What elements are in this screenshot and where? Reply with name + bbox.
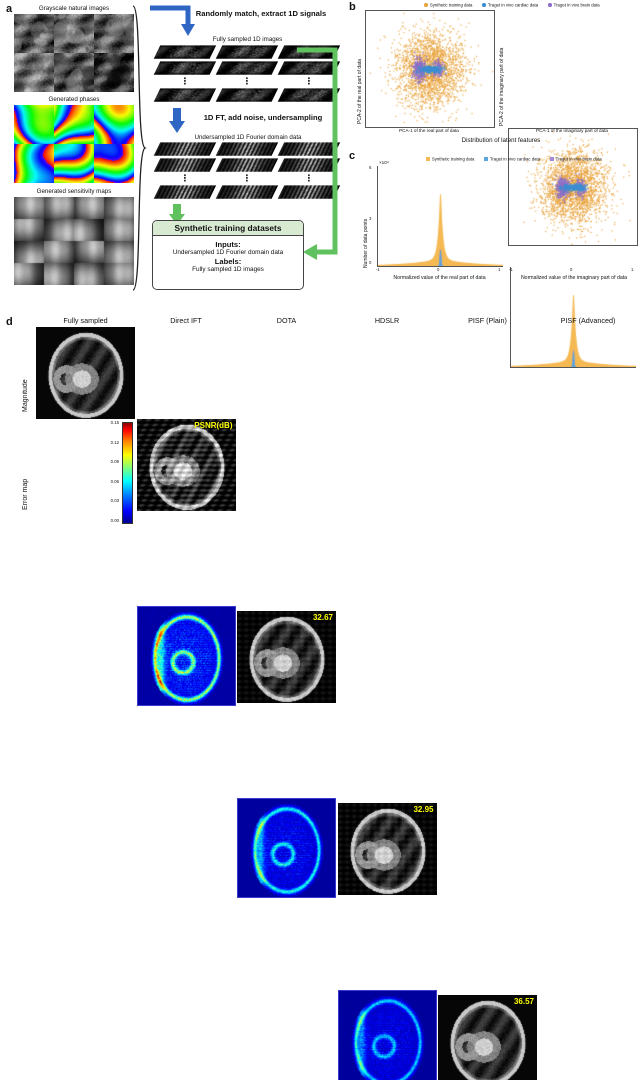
stack-ellipsis: ⋮ bbox=[157, 77, 213, 86]
inputs-label: Inputs: bbox=[155, 240, 301, 249]
inputs-value: Undersampled 1D Fourier domain data bbox=[155, 249, 301, 256]
undersampled-fourier-slab bbox=[157, 142, 213, 156]
legend-item: Synthetic training data bbox=[424, 2, 472, 7]
legend-item: Traget in vivo cardiac data bbox=[482, 2, 538, 7]
error-map-2 bbox=[137, 606, 236, 706]
psnr-value-4: 32.95 bbox=[413, 805, 433, 814]
stack-ellipsis: ⋮ bbox=[219, 77, 275, 86]
generated-phases bbox=[14, 105, 134, 183]
legend-item: Traget in vivo brain data bbox=[548, 2, 599, 7]
legend-swatch-icon bbox=[482, 3, 486, 7]
panel-d-letter: d bbox=[6, 316, 13, 328]
column-header-pisf-plain: PISF (Plain) bbox=[438, 316, 537, 325]
column-header-hdslr: HDSLR bbox=[338, 316, 437, 325]
legend-label: Traget in vivo cardiac data bbox=[490, 156, 540, 161]
panel-d-columns: Fully sampledDirect IFTPSNR(dB)DOTA32.67… bbox=[0, 300, 640, 1080]
legend-label: Synthetic training data bbox=[432, 156, 475, 161]
blue-arrow-down-icon bbox=[168, 108, 186, 134]
row-label-error-map: Error map bbox=[22, 430, 29, 510]
colorbar-tick-5: 0.00 bbox=[103, 518, 119, 523]
legend-swatch-icon bbox=[550, 157, 554, 161]
stack-ellipsis: ⋮ bbox=[219, 174, 275, 183]
panel-c-xlabel-1: Normalized value of the imaginary part o… bbox=[508, 275, 640, 281]
panel-c: c Synthetic training dataTraget in vivo … bbox=[345, 148, 640, 298]
panel-c-ytick-2: 6 bbox=[369, 165, 371, 170]
brace-icon bbox=[131, 4, 147, 292]
panel-c-letter: c bbox=[349, 150, 355, 162]
panel-b-xlabel-0: PCA-1 of the real part of data bbox=[365, 128, 493, 133]
undersampled-fourier-slab bbox=[219, 158, 275, 172]
magnitude-image-4: 32.95 bbox=[338, 803, 437, 895]
panel-c-ytick-0: 0 bbox=[369, 260, 371, 265]
legend-swatch-icon bbox=[548, 3, 552, 7]
error-map-4 bbox=[338, 990, 437, 1080]
error-map-3 bbox=[237, 798, 336, 898]
legend-label: Synthetic training data bbox=[430, 2, 473, 7]
magnitude-image-3: 32.67 bbox=[237, 611, 336, 703]
fully-sampled-1d-slab bbox=[157, 61, 213, 75]
column-header-pisf-advanced: PISF (Advanced) bbox=[539, 316, 638, 325]
caption-generated-sensitivity-maps: Generated sensitivity maps bbox=[14, 188, 134, 195]
colorbar-tick-4: 0.03 bbox=[103, 498, 119, 503]
fully-sampled-1d-slab bbox=[157, 45, 213, 59]
fully-sampled-1d-slab bbox=[219, 61, 275, 75]
colorbar-tick-0: 0.15 bbox=[103, 420, 119, 425]
panel-c-ylabel: Number of data points bbox=[363, 178, 369, 268]
panel-b-caption: Distribution of latent features bbox=[365, 137, 637, 144]
legend-item: Synthetic training data bbox=[426, 156, 474, 161]
undersampled-fourier-slab bbox=[157, 185, 213, 199]
legend-swatch-icon bbox=[484, 157, 488, 161]
undersampled-fourier-slab bbox=[219, 185, 275, 199]
caption-generated-phases: Generated phases bbox=[14, 96, 134, 103]
undersampled-fourier-slab bbox=[157, 158, 213, 172]
panel-a-letter: a bbox=[6, 3, 12, 15]
psnr-value-3: 32.67 bbox=[313, 613, 333, 622]
psnr-value-2: PSNR(dB) bbox=[194, 421, 232, 430]
dataset-box-header: Synthetic training datasets bbox=[153, 221, 303, 236]
panel-b-ylabel-1: PCA-2 of the imaginary part of data bbox=[499, 14, 505, 126]
panel-b-letter: b bbox=[349, 1, 356, 13]
panel-c-ytick-1: 3 bbox=[369, 216, 371, 221]
synthetic-training-dataset-box: Synthetic training datasets Inputs: Unde… bbox=[152, 220, 304, 290]
labels-value: Fully sampled 1D images bbox=[155, 266, 301, 273]
panel-c-xtick-mid-1: 0 bbox=[570, 267, 572, 272]
psnr-value-5: 36.57 bbox=[514, 997, 534, 1006]
scatter-plot-real bbox=[365, 10, 495, 128]
panel-c-legend: Synthetic training dataTraget in vivo ca… bbox=[391, 156, 637, 161]
blue-arrow-top-icon bbox=[148, 2, 204, 38]
row-label-magnitude: Magnitude bbox=[22, 332, 29, 412]
step1-caption: Fully sampled 1D images bbox=[160, 36, 335, 43]
column-header-direct-ift: Direct IFT bbox=[137, 316, 236, 325]
panel-c-xtick-left-1: -1 bbox=[509, 267, 513, 272]
panel-c-xtick-left-0: -1 bbox=[376, 267, 380, 272]
magnitude-image-5: 36.57 bbox=[438, 995, 537, 1080]
legend-item: Traget in vivo cardiac data bbox=[484, 156, 540, 161]
generated-sensitivity-maps bbox=[14, 197, 134, 285]
panel-b-ylabel-0: PCA-2 of the real part of data bbox=[357, 18, 363, 124]
panel-b-xlabel-1: PCA-1 of the imaginary part of data bbox=[508, 128, 636, 133]
legend-label: Traget in vivo brain data bbox=[556, 156, 602, 161]
legend-swatch-icon bbox=[424, 3, 428, 7]
legend-label: Traget in vivo brain data bbox=[554, 2, 600, 7]
legend-swatch-icon bbox=[426, 157, 430, 161]
column-header-dota: DOTA bbox=[237, 316, 336, 325]
fully-sampled-1d-slab bbox=[219, 45, 275, 59]
panel-d: d Magnitude Error map Fully sampledDirec… bbox=[0, 300, 640, 540]
caption-grayscale-natural-images: Grayscale natural images bbox=[14, 5, 134, 12]
column-header-fully-sampled: Fully sampled bbox=[36, 316, 135, 325]
panel-a: a Grayscale natural images Generated pha… bbox=[0, 0, 345, 300]
undersampled-fourier-slab bbox=[219, 142, 275, 156]
magnitude-image-1 bbox=[36, 327, 135, 419]
error-colorbar bbox=[122, 422, 133, 524]
panel-c-xtick-mid-0: 0 bbox=[437, 267, 439, 272]
panel-c-xlabel-0: Normalized value of the real part of dat… bbox=[377, 275, 502, 281]
panel-b-legend: Synthetic training dataTraget in vivo ca… bbox=[387, 2, 637, 7]
panel-c-xtick-right-0: 1 bbox=[498, 267, 500, 272]
colorbar-tick-3: 0.06 bbox=[103, 479, 119, 484]
panel-c-y-multiplier: ×10⁴ bbox=[379, 160, 401, 165]
legend-label: Traget in vivo cardiac data bbox=[488, 2, 538, 7]
fully-sampled-1d-slab bbox=[157, 88, 213, 102]
step1-title: Randomly match, extract 1D signals bbox=[186, 9, 336, 18]
colorbar-tick-1: 0.12 bbox=[103, 440, 119, 445]
labels-label: Labels: bbox=[155, 257, 301, 266]
colorbar-tick-2: 0.09 bbox=[103, 459, 119, 464]
grayscale-natural-images bbox=[14, 14, 134, 92]
panel-c-xtick-right-1: 1 bbox=[631, 267, 633, 272]
stack-ellipsis: ⋮ bbox=[157, 174, 213, 183]
magnitude-image-2: PSNR(dB) bbox=[137, 419, 236, 511]
fully-sampled-1d-slab bbox=[219, 88, 275, 102]
panel-b: b Synthetic training dataTraget in vivo … bbox=[345, 0, 640, 148]
legend-item: Traget in vivo brain data bbox=[550, 156, 601, 161]
histogram-real bbox=[377, 166, 503, 267]
